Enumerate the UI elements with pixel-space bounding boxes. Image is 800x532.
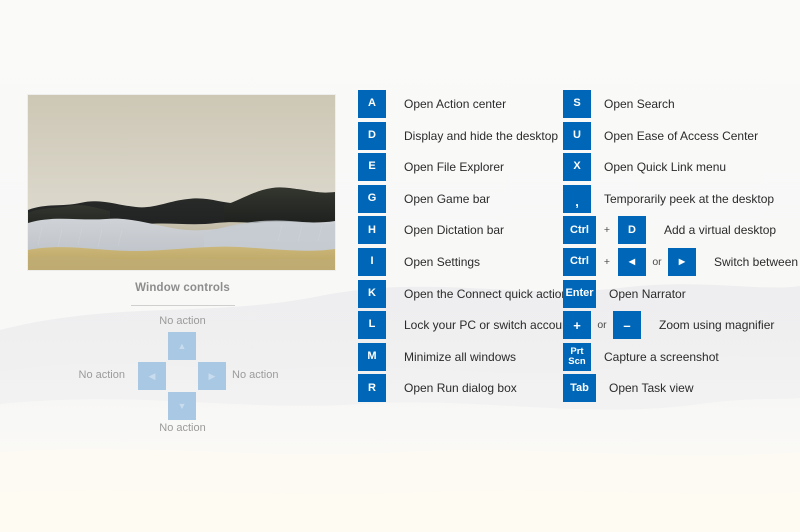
shortcut-description: Open the Connect quick action [386, 280, 568, 308]
key-label: X [573, 161, 580, 172]
key-r[interactable]: R [358, 374, 386, 402]
window-controls-divider [131, 305, 235, 306]
shortcut-row: Ctrl+◀or▶Switch between [563, 248, 800, 280]
key-label: Enter [565, 288, 593, 299]
arrow-left-icon: ◀ [138, 362, 166, 390]
key-label: U [573, 130, 581, 141]
key-label: R [368, 383, 376, 394]
wallpaper-preview [28, 95, 335, 270]
key-x[interactable]: X [563, 153, 591, 181]
shortcut-description: Open Settings [386, 248, 480, 276]
shortcut-description: Zoom using magnifier [641, 311, 774, 339]
arrow-right-key[interactable]: ▶ [198, 362, 226, 390]
shortcut-row: MMinimize all windows [358, 343, 558, 375]
key-label: D [628, 225, 636, 236]
key-symbol[interactable]: – [613, 311, 641, 339]
shortcut-row: EnterOpen Narrator [563, 280, 800, 312]
arrow-down-key[interactable]: ▼ [168, 392, 196, 420]
key-label: Tab [570, 383, 589, 394]
key-u[interactable]: U [563, 122, 591, 150]
key-ctrl[interactable]: Ctrl [563, 248, 596, 276]
window-control-down-label: No action [95, 422, 270, 434]
shortcut-description: Minimize all windows [386, 343, 516, 371]
key-enter[interactable]: Enter [563, 280, 596, 308]
shortcut-description: Display and hide the desktop [386, 122, 558, 150]
key-label: L [369, 319, 376, 330]
arrow-right-icon: ▶ [198, 362, 226, 390]
key-label: I [370, 256, 373, 267]
arrow-left-icon: ◀ [629, 258, 635, 266]
shortcut-description: Temporarily peek at the desktop [591, 185, 774, 213]
key-l[interactable]: L [358, 311, 386, 339]
window-control-left-label: No action [79, 369, 125, 381]
window-control-up-label: No action [95, 315, 270, 327]
shortcut-description: Open Task view [596, 374, 694, 402]
key-label: K [368, 288, 376, 299]
key-label: D [368, 130, 376, 141]
shortcut-list-right: SOpen SearchUOpen Ease of Access CenterX… [563, 90, 800, 406]
key-label: A [368, 98, 376, 109]
shortcut-description: Open Quick Link menu [591, 153, 726, 181]
shortcut-row: UOpen Ease of Access Center [563, 122, 800, 154]
key-arrow-right[interactable]: ▶ [668, 248, 696, 276]
shortcut-description: Open Action center [386, 90, 506, 118]
key-label: E [368, 161, 375, 172]
key-s[interactable]: S [563, 90, 591, 118]
key-label: Ctrl [570, 225, 589, 236]
shortcut-description: Lock your PC or switch accounts [386, 311, 578, 339]
shortcut-row: TabOpen Task view [563, 374, 800, 406]
shortcut-row: Prt ScnCapture a screenshot [563, 343, 800, 375]
shortcut-row: +or–Zoom using magnifier [563, 311, 800, 343]
shortcut-description: Open Narrator [596, 280, 686, 308]
shortcut-description: Open Run dialog box [386, 374, 517, 402]
shortcut-row: EOpen File Explorer [358, 153, 558, 185]
shortcut-row: LLock your PC or switch accounts [358, 311, 558, 343]
shortcut-row: GOpen Game bar [358, 185, 558, 217]
shortcut-row: ROpen Run dialog box [358, 374, 558, 406]
shortcut-description: Switch between [696, 248, 798, 276]
key-i[interactable]: I [358, 248, 386, 276]
shortcut-row: ,Temporarily peek at the desktop [563, 185, 800, 217]
key-d[interactable]: D [618, 216, 646, 244]
arrow-down-icon: ▼ [168, 392, 196, 420]
window-controls-title: Window controls [95, 282, 270, 294]
key-joiner: + [596, 248, 618, 276]
key-d[interactable]: D [358, 122, 386, 150]
shortcut-row: Ctrl+DAdd a virtual desktop [563, 216, 800, 248]
window-controls-panel: Window controls No action ▲ No action ◀ … [95, 282, 270, 437]
shortcut-row: HOpen Dictation bar [358, 216, 558, 248]
key-m[interactable]: M [358, 343, 386, 371]
shortcut-description: Open Search [591, 90, 675, 118]
key-label: Ctrl [570, 256, 589, 267]
key-symbol[interactable]: + [563, 311, 591, 339]
key-label: + [573, 319, 581, 332]
arrow-up-key[interactable]: ▲ [168, 332, 196, 360]
key-label: Prt Scn [568, 347, 585, 367]
shortcut-description: Open File Explorer [386, 153, 504, 181]
key-joiner: + [596, 216, 618, 244]
shortcut-description: Add a virtual desktop [646, 216, 776, 244]
wallpaper-image [28, 95, 335, 270]
shortcut-row: SOpen Search [563, 90, 800, 122]
key-h[interactable]: H [358, 216, 386, 244]
key-symbol[interactable]: , [563, 185, 591, 213]
key-label: M [367, 351, 376, 362]
shortcut-row: AOpen Action center [358, 90, 558, 122]
key-a[interactable]: A [358, 90, 386, 118]
shortcut-list-left: AOpen Action centerDDisplay and hide the… [358, 90, 558, 406]
key-label: S [573, 98, 580, 109]
key-arrow-left[interactable]: ◀ [618, 248, 646, 276]
shortcut-row: DDisplay and hide the desktop [358, 122, 558, 154]
key-ctrl[interactable]: Ctrl [563, 216, 596, 244]
key-joiner: or [591, 311, 613, 339]
key-e[interactable]: E [358, 153, 386, 181]
key-tab[interactable]: Tab [563, 374, 596, 402]
shortcut-row: KOpen the Connect quick action [358, 280, 558, 312]
key-joiner: or [646, 248, 668, 276]
key-g[interactable]: G [358, 185, 386, 213]
shortcut-row: IOpen Settings [358, 248, 558, 280]
key-label: – [623, 319, 630, 332]
shortcut-description: Open Game bar [386, 185, 490, 213]
key-label: H [368, 225, 376, 236]
key-prt-scn[interactable]: Prt Scn [563, 343, 591, 371]
arrow-left-key[interactable]: ◀ [138, 362, 166, 390]
arrow-up-icon: ▲ [168, 332, 196, 360]
key-k[interactable]: K [358, 280, 386, 308]
arrow-right-icon: ▶ [679, 258, 685, 266]
shortcut-description: Open Ease of Access Center [591, 122, 758, 150]
window-control-right-label: No action [232, 369, 278, 381]
shortcut-description: Open Dictation bar [386, 216, 504, 244]
shortcut-row: XOpen Quick Link menu [563, 153, 800, 185]
comma-key-label: , [575, 199, 579, 204]
key-label: G [368, 193, 377, 204]
shortcut-description: Capture a screenshot [591, 343, 719, 371]
